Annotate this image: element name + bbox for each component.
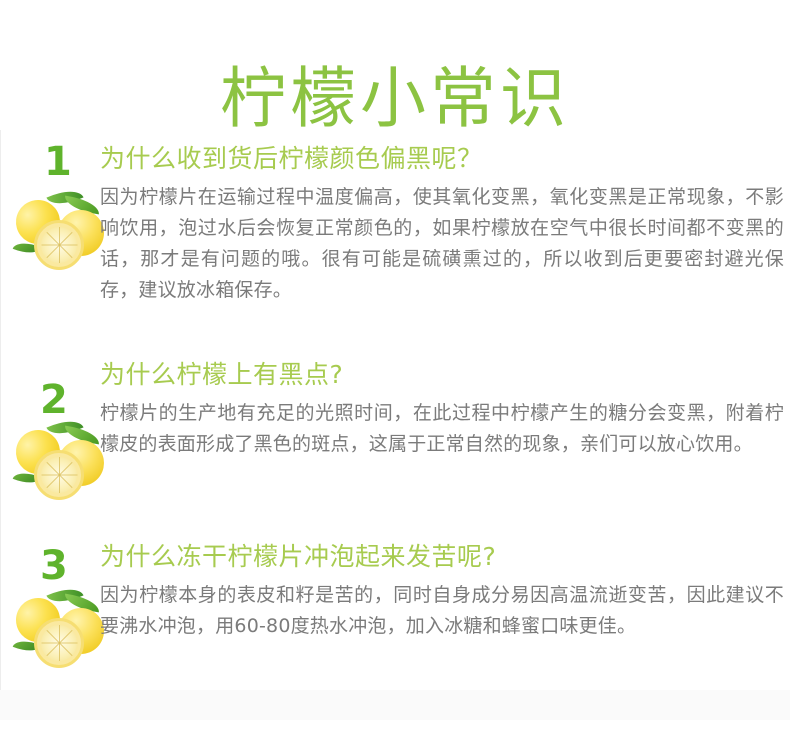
tip-number-3: 3	[40, 546, 68, 586]
lemon-cluster-icon	[14, 190, 106, 276]
lemon-half-flesh	[41, 227, 77, 263]
tip-question-3: 为什么冻干柠檬片冲泡起来发苦呢?	[100, 540, 780, 574]
tip-content-1: 为什么收到货后柠檬颜色偏黑呢？ 因为柠檬片在运输过程中温度偏高，使其氧化变黑，氧…	[100, 142, 780, 306]
bottom-band	[0, 690, 790, 720]
tip-question-1: 为什么收到货后柠檬颜色偏黑呢？	[100, 142, 780, 176]
tip-marker-3: 3	[14, 540, 100, 690]
lemon-tips-page: 柠檬小常识 1	[0, 0, 790, 738]
lemon-cluster-icon	[14, 420, 106, 506]
tip-number-1: 1	[44, 142, 72, 182]
left-edge-divider	[0, 130, 1, 690]
tip-answer-1: 因为柠檬片在运输过程中温度偏高，使其氧化变黑，氧化变黑是正常现象，不影响饮用，泡…	[100, 182, 784, 306]
tip-number-2: 2	[40, 380, 68, 420]
lemon-cluster-icon	[14, 588, 106, 674]
lemon-half-flesh	[41, 457, 77, 493]
tip-answer-2: 柠檬片的生产地有充足的光照时间，在此过程中柠檬产生的糖分会变黑，附着柠檬皮的表面…	[100, 398, 784, 460]
tip-answer-3: 因为柠檬本身的表皮和籽是苦的，同时自身成分易因高温流逝变苦，因此建议不要沸水冲泡…	[100, 580, 784, 642]
lemon-half-icon	[34, 220, 84, 270]
tip-content-3: 为什么冻干柠檬片冲泡起来发苦呢? 因为柠檬本身的表皮和籽是苦的，同时自身成分易因…	[100, 540, 780, 642]
lemon-half-icon	[34, 618, 84, 668]
tip-marker-2: 2	[14, 358, 100, 508]
page-title: 柠檬小常识	[220, 66, 570, 132]
tip-content-2: 为什么柠檬上有黑点? 柠檬片的生产地有充足的光照时间，在此过程中柠檬产生的糖分会…	[100, 358, 780, 460]
lemon-half-icon	[34, 450, 84, 500]
tip-question-2: 为什么柠檬上有黑点?	[100, 358, 780, 392]
lemon-half-flesh	[41, 625, 77, 661]
tip-marker-1: 1	[14, 142, 100, 292]
